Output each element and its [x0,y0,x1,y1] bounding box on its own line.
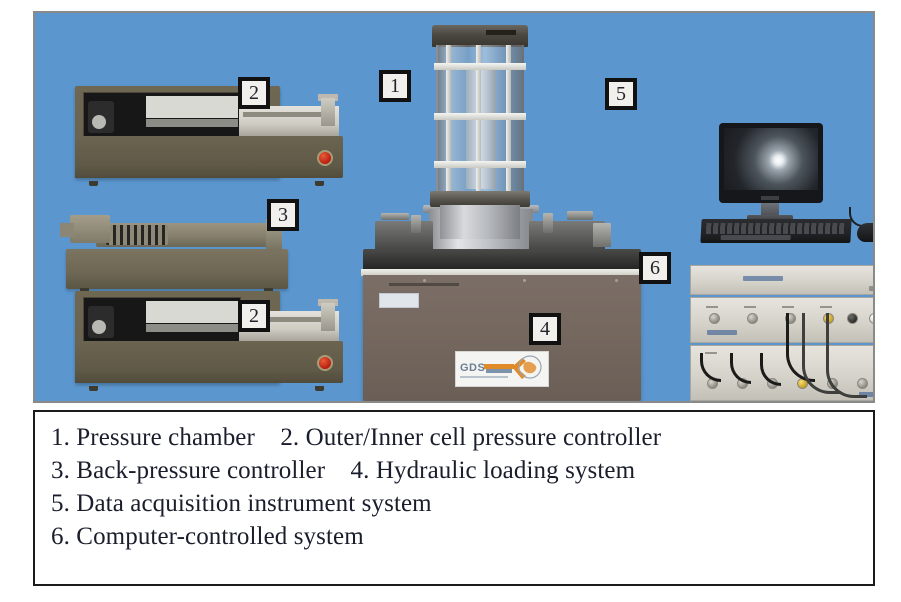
keyboard[interactable] [700,219,851,243]
callout-6: 6 [639,252,671,284]
chamber-cap-slot [486,30,516,35]
back-pressure-spring [106,225,168,245]
gds-logo-graphic: GDS [456,352,548,386]
controller-window-shadow [146,119,238,127]
chamber-support-band [434,113,526,120]
caption-line-4: 6. Computer-controlled system [51,520,873,553]
callout-number: 1 [390,76,400,96]
pressure-chamber [424,25,536,225]
daq-model-text [869,286,875,291]
daq-connector-port-white[interactable] [869,313,875,324]
chamber-support-band [434,63,526,70]
callout-number: 3 [278,205,288,225]
cabinet-screw [423,279,426,282]
port-label [706,306,718,308]
valve-stem[interactable] [543,213,553,233]
svg-text:GDS: GDS [460,362,485,374]
keyboard-keys[interactable] [706,223,847,234]
daq-cable [826,313,867,398]
port-label [820,306,832,308]
chamber-support-band [434,161,526,168]
callout-3: 3 [267,199,299,231]
daq-brand-mark [707,330,737,335]
daq-connector-port[interactable] [747,313,758,324]
controller-internal-wheel [92,320,106,334]
controller-foot [315,181,324,186]
cabinet-screw [615,279,618,282]
controller-base [75,341,343,383]
port-label [744,306,756,308]
valve-handle[interactable] [567,211,593,220]
callout-number: 2 [249,306,259,326]
controller-window-highlight [146,301,238,323]
callout-1: 1 [379,70,411,102]
back-pressure-motor [70,215,110,243]
callout-2b: 2 [238,300,270,332]
caption-line-2: 3. Back-pressure controller 4. Hydraulic… [51,454,873,487]
chamber-steel-neck [440,205,520,239]
daq-brand-mark [743,276,783,281]
emergency-stop-button-icon[interactable] [317,355,333,371]
equipment-photograph: 2 3 [33,11,875,403]
cabinet-screw [523,279,526,282]
controller-base [75,136,343,178]
callout-5: 5 [605,78,637,110]
back-pressure-motor-shaft [60,223,74,237]
monitor-screen[interactable] [724,128,818,190]
controller-window-highlight [146,96,238,118]
callout-number: 2 [249,83,259,103]
caption-line-3: 5. Data acquisition instrument system [51,487,873,520]
daq-top-panel [690,265,875,295]
callout-number: 5 [616,84,626,104]
controller-internal-wheel [92,115,106,129]
callout-number: 4 [540,319,550,339]
controller-piston-rod [243,112,331,117]
figure-caption-box: 1. Pressure chamber 2. Outer/Inner cell … [33,410,875,586]
cabinet-id-plate [379,293,419,308]
monitor[interactable] [719,123,823,203]
callout-2a: 2 [238,77,270,109]
caption-line-1: 1. Pressure chamber 2. Outer/Inner cell … [51,421,873,454]
controller-valve-block [321,303,335,331]
inner-cell-pressure-controller [75,291,343,387]
valve-handle[interactable] [381,213,409,220]
outer-cell-pressure-controller [75,86,343,182]
callout-number: 6 [650,258,660,278]
emergency-stop-button-icon[interactable] [317,150,333,166]
fitting-block [593,223,611,247]
chamber-top-cap [432,25,528,47]
valve-stem[interactable] [411,215,421,233]
cabinet-model-text [389,283,459,286]
figure-page: 2 3 [0,0,901,602]
controller-viewing-window [83,92,241,142]
computer-controlled-system [690,265,875,401]
controller-viewing-window [83,297,241,347]
keyboard-spacebar[interactable] [721,235,791,240]
back-pressure-plinth [66,249,288,289]
callout-4: 4 [529,313,561,345]
controller-foot [89,386,98,391]
daq-connector-port[interactable] [709,313,720,324]
data-acquisition-computer [701,123,875,253]
monitor-brand-badge [761,196,779,200]
controller-foot [89,181,98,186]
controller-window-shadow [146,324,238,332]
back-pressure-controller [66,205,290,295]
loading-system-cabinet: GDS [363,275,641,401]
controller-foot [315,386,324,391]
port-label [782,306,794,308]
mouse[interactable] [857,223,875,242]
gds-logo: GDS [455,351,549,387]
controller-valve-block [321,98,335,126]
loading-frame-deck [363,249,641,271]
chamber-soil-specimen [466,69,496,189]
